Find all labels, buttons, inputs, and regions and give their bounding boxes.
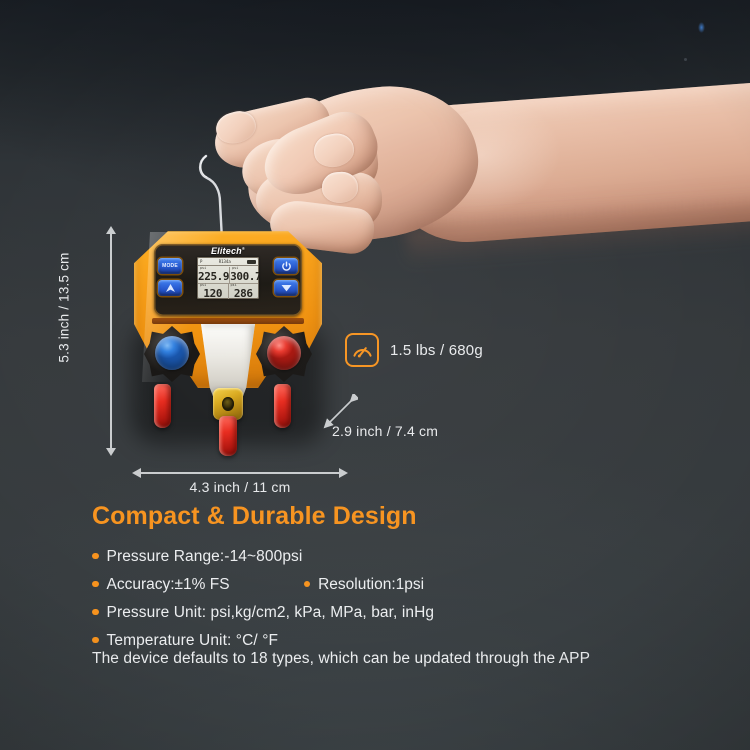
device-face-panel: Elitech® P R134a psi 225.9 psi 300.7 <box>154 244 302 316</box>
left-port-cap <box>154 384 171 428</box>
lcd-cell: psi 120 <box>198 284 229 299</box>
width-arrow-left <box>132 468 141 478</box>
height-dimension-label: 5.3 inch / 13.5 cm <box>57 238 72 378</box>
lcd-status-bar: P R134a <box>198 258 258 266</box>
spec-text: Resolution:1psi <box>318 576 424 594</box>
low-side-valve-knob[interactable] <box>142 324 202 384</box>
bullet-icon <box>92 581 99 588</box>
lcd-unit: psi <box>232 267 238 270</box>
bullet-icon <box>92 553 99 560</box>
scale-gauge-icon <box>345 333 379 367</box>
spec-text: Pressure Unit: psi,kg/cm2, kPa, MPa, bar… <box>107 604 435 622</box>
bullet-icon <box>92 609 99 616</box>
trademark-symbol: ® <box>242 246 245 251</box>
spec-text: Accuracy:±1% FS <box>107 576 230 594</box>
lcd-screen: P R134a psi 225.9 psi 300.7 <box>197 257 259 299</box>
page-title: Compact & Durable Design <box>92 502 417 531</box>
bullet-icon <box>304 581 311 588</box>
spec-item: Temperature Unit: °C/ °F <box>92 632 278 650</box>
zero-button[interactable] <box>158 280 182 296</box>
width-dimension-line <box>140 472 340 474</box>
knob-cap-red <box>267 336 301 370</box>
lcd-unit: psi <box>231 284 237 287</box>
height-arrow-top <box>106 226 116 234</box>
down-button[interactable] <box>274 280 298 296</box>
depth-dimension-label: 2.9 inch / 7.4 cm <box>332 423 438 439</box>
width-dimension-label: 4.3 inch / 11 cm <box>140 479 340 495</box>
chevron-down-icon <box>280 283 293 293</box>
power-button[interactable] <box>274 258 298 274</box>
brand-name: Elitech <box>211 246 242 256</box>
zero-arrow-icon <box>164 283 177 294</box>
lcd-value: 300.7 <box>230 271 259 283</box>
weight-badge: 1.5 lbs / 680g <box>345 333 483 367</box>
weight-text: 1.5 lbs / 680g <box>390 342 483 359</box>
height-arrow-bottom <box>106 448 116 456</box>
background-speck <box>698 22 705 33</box>
device-body: Elitech® P R134a psi 225.9 psi 300.7 <box>128 228 328 458</box>
spec-item: Pressure Unit: psi,kg/cm2, kPa, MPa, bar… <box>92 604 434 622</box>
height-dimension-line <box>110 232 112 454</box>
width-arrow-right <box>339 468 348 478</box>
center-port-cap <box>219 416 237 456</box>
right-port-cap <box>274 384 291 428</box>
bullet-icon <box>92 637 99 644</box>
high-side-valve-knob[interactable] <box>254 324 314 384</box>
hanging-wire-hook <box>196 148 252 240</box>
power-icon <box>281 261 292 272</box>
knob-cap-blue <box>155 336 189 370</box>
lcd-refrigerant-type: R134a <box>219 260 231 264</box>
background-speck <box>684 58 687 61</box>
mode-button-label: MODE <box>162 263 178 269</box>
battery-icon <box>247 260 256 264</box>
spec-text: Pressure Range:-14~800psi <box>107 548 303 566</box>
lcd-row-upper: psi 225.9 psi 300.7 <box>198 267 258 283</box>
spec-footnote: The device defaults to 18 types, which c… <box>92 650 590 668</box>
lcd-status-left: P <box>200 260 202 264</box>
lcd-value: 225.9 <box>198 271 229 283</box>
lcd-unit: psi <box>200 267 206 270</box>
lcd-row-lower: psi 120 psi 286 <box>198 283 258 299</box>
lcd-value: 120 <box>203 288 222 299</box>
lcd-value: 286 <box>234 288 253 299</box>
lcd-unit: psi <box>200 284 206 287</box>
lcd-cell: psi 300.7 <box>230 267 259 283</box>
spec-item-pair: Accuracy:±1% FSResolution:1psi <box>92 576 424 594</box>
fitting-bore <box>222 397 234 411</box>
product-infographic: Elitech® P R134a psi 225.9 psi 300.7 <box>0 0 750 750</box>
mode-button[interactable]: MODE <box>158 258 182 274</box>
spec-item: Pressure Range:-14~800psi <box>92 548 302 566</box>
lcd-cell: psi 286 <box>229 284 259 299</box>
lcd-cell: psi 225.9 <box>198 267 230 283</box>
spec-text: Temperature Unit: °C/ °F <box>107 632 279 650</box>
brand-logo: Elitech® <box>154 246 302 256</box>
